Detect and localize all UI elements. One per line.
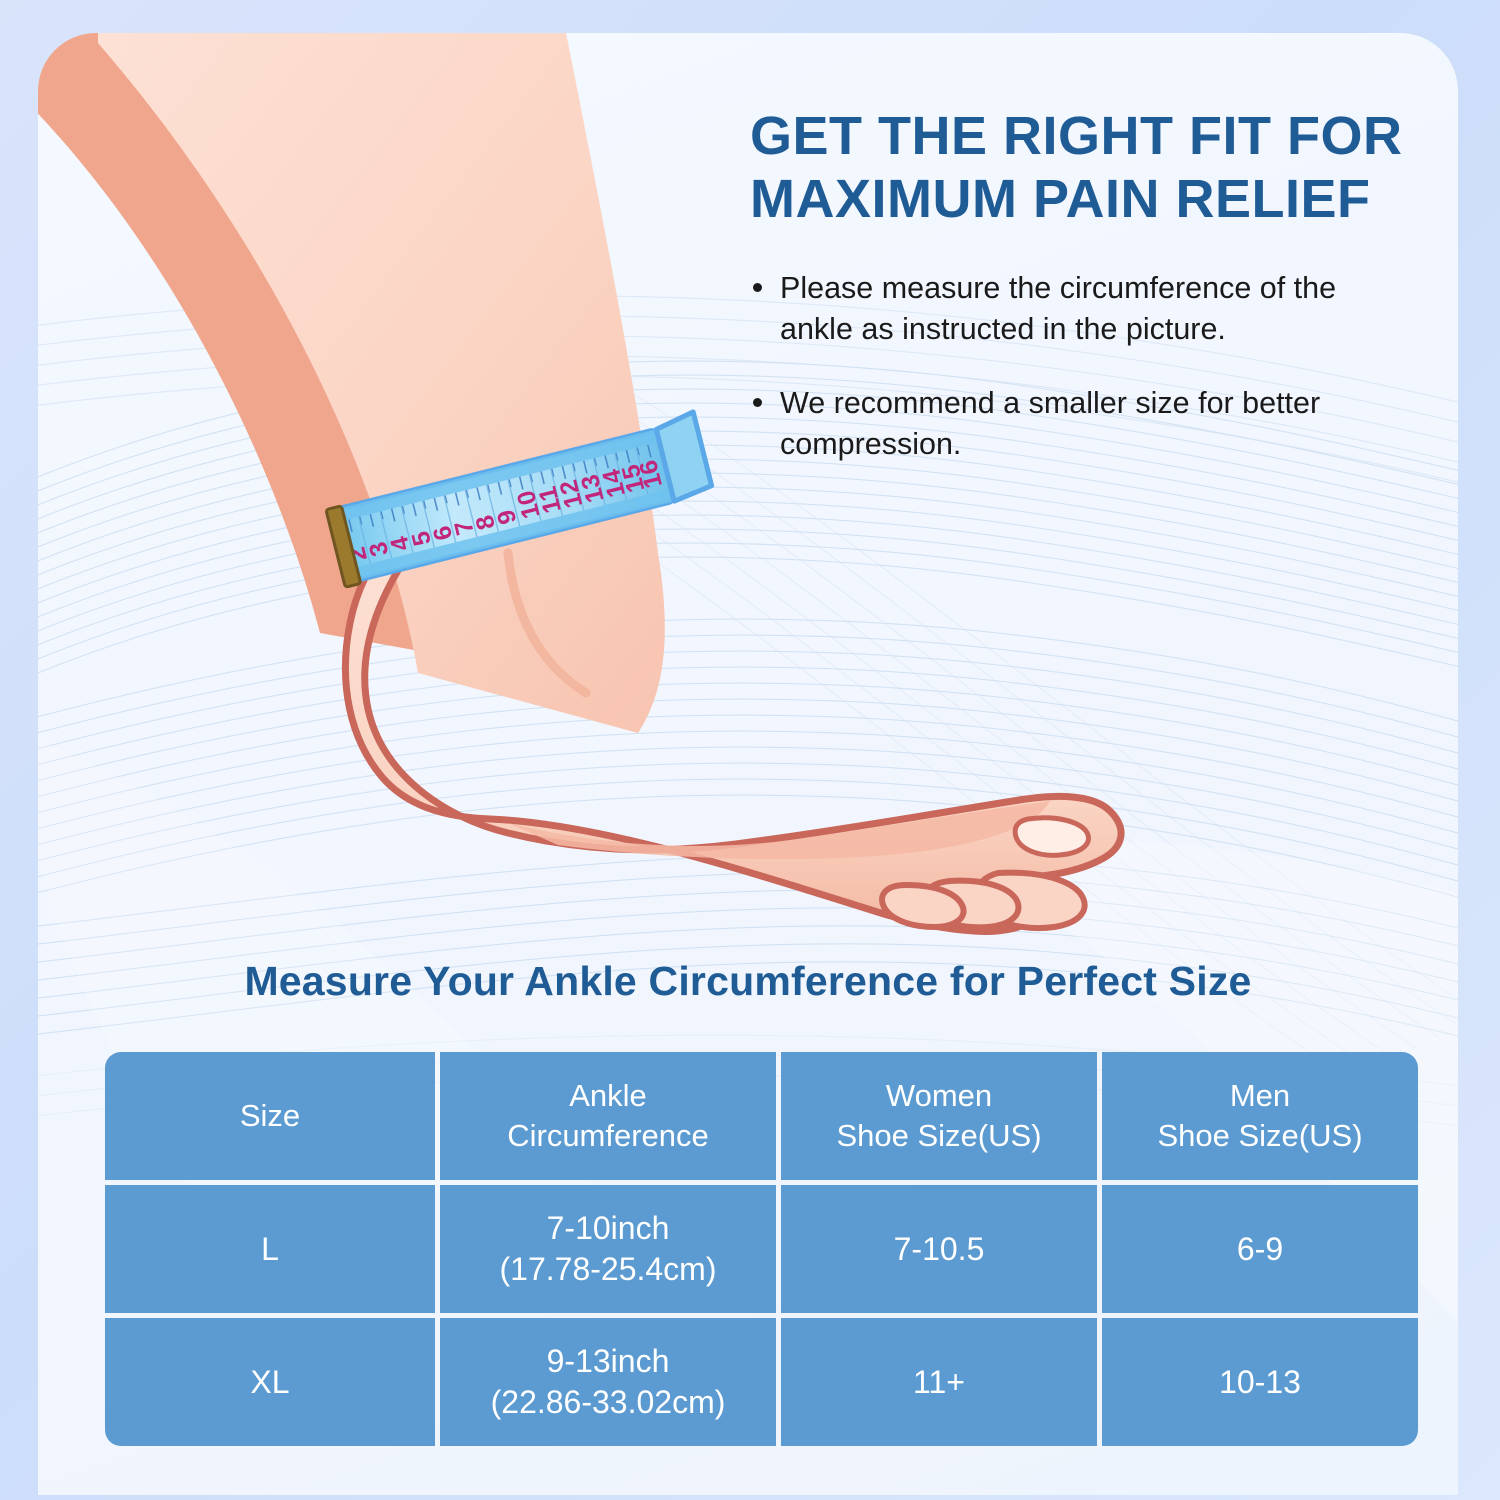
header-line-1: Women: [781, 1076, 1097, 1116]
header-line-2: Circumference: [440, 1116, 776, 1156]
circumference-inches: 7-10inch: [440, 1208, 776, 1249]
measuring-tape: 2 3 4 5 6 7 8 9 10 11 12 13 14 15 16: [324, 412, 714, 587]
circumference-cm: (22.86-33.02cm): [440, 1382, 776, 1423]
svg-text:8: 8: [470, 512, 501, 532]
table-row: XL 9-13inch (22.86-33.02cm) 11+ 10-13: [105, 1318, 1418, 1446]
svg-text:10: 10: [512, 488, 546, 522]
copy-column: GET THE RIGHT FIT FOR MAXIMUM PAIN RELIE…: [750, 105, 1440, 499]
bullet-dot-icon: [753, 283, 762, 292]
column-header-size: Size: [105, 1052, 435, 1180]
cell-circumference: 9-13inch (22.86-33.02cm): [440, 1318, 776, 1446]
cell-women-shoe-size: 11+: [781, 1318, 1097, 1446]
svg-text:13: 13: [576, 472, 610, 506]
svg-text:2: 2: [342, 544, 373, 564]
circumference-cm: (17.78-25.4cm): [440, 1249, 776, 1290]
cell-size: L: [105, 1185, 435, 1313]
svg-text:16: 16: [634, 457, 668, 491]
column-header-women-shoe-size: Women Shoe Size(US): [781, 1052, 1097, 1180]
column-header-ankle-circumference: Ankle Circumference: [440, 1052, 776, 1180]
svg-text:11: 11: [533, 484, 567, 517]
bullet-dot-icon: [753, 398, 762, 407]
svg-text:6: 6: [428, 523, 459, 543]
table-row: L 7-10inch (17.78-25.4cm) 7-10.5 6-9: [105, 1185, 1418, 1313]
page-title: GET THE RIGHT FIT FOR MAXIMUM PAIN RELIE…: [750, 105, 1440, 230]
instruction-list: Please measure the circumference of the …: [750, 268, 1440, 464]
header-line-1: Ankle: [440, 1076, 776, 1116]
cell-men-shoe-size: 10-13: [1102, 1318, 1418, 1446]
svg-text:3: 3: [364, 539, 395, 559]
instruction-text: We recommend a smaller size for better c…: [780, 386, 1320, 461]
leg-shape: [38, 33, 665, 733]
svg-text:4: 4: [385, 533, 416, 553]
list-item: We recommend a smaller size for better c…: [750, 383, 1380, 464]
size-chart-table: Size Ankle Circumference Women Shoe Size…: [100, 1047, 1423, 1451]
cell-men-shoe-size: 6-9: [1102, 1185, 1418, 1313]
headline-line-2: MAXIMUM PAIN RELIEF: [750, 169, 1370, 229]
svg-text:9: 9: [492, 507, 523, 527]
svg-text:5: 5: [406, 528, 437, 548]
headline-line-1: GET THE RIGHT FIT FOR: [750, 106, 1402, 166]
foot-shape: [345, 511, 1121, 931]
table-header-row: Size Ankle Circumference Women Shoe Size…: [105, 1052, 1418, 1180]
infographic-page: 2 3 4 5 6 7 8 9 10 11 12 13 14 15 16: [0, 0, 1500, 1500]
header-line-1: Men: [1102, 1076, 1418, 1116]
svg-text:7: 7: [449, 518, 480, 538]
list-item: Please measure the circumference of the …: [750, 268, 1380, 349]
column-header-men-shoe-size: Men Shoe Size(US): [1102, 1052, 1418, 1180]
header-line-2: Shoe Size(US): [781, 1116, 1097, 1156]
toes: [882, 873, 1085, 928]
svg-text:15: 15: [617, 461, 651, 495]
cell-women-shoe-size: 7-10.5: [781, 1185, 1097, 1313]
header-line-1: Size: [105, 1096, 435, 1136]
section-subtitle: Measure Your Ankle Circumference for Per…: [38, 958, 1458, 1005]
svg-text:12: 12: [554, 477, 588, 511]
cell-size: XL: [105, 1318, 435, 1446]
cell-circumference: 7-10inch (17.78-25.4cm): [440, 1185, 776, 1313]
circumference-inches: 9-13inch: [440, 1341, 776, 1382]
svg-text:14: 14: [597, 466, 631, 500]
instruction-text: Please measure the circumference of the …: [780, 271, 1336, 346]
content-card: 2 3 4 5 6 7 8 9 10 11 12 13 14 15 16: [38, 33, 1458, 1495]
header-line-2: Shoe Size(US): [1102, 1116, 1418, 1156]
